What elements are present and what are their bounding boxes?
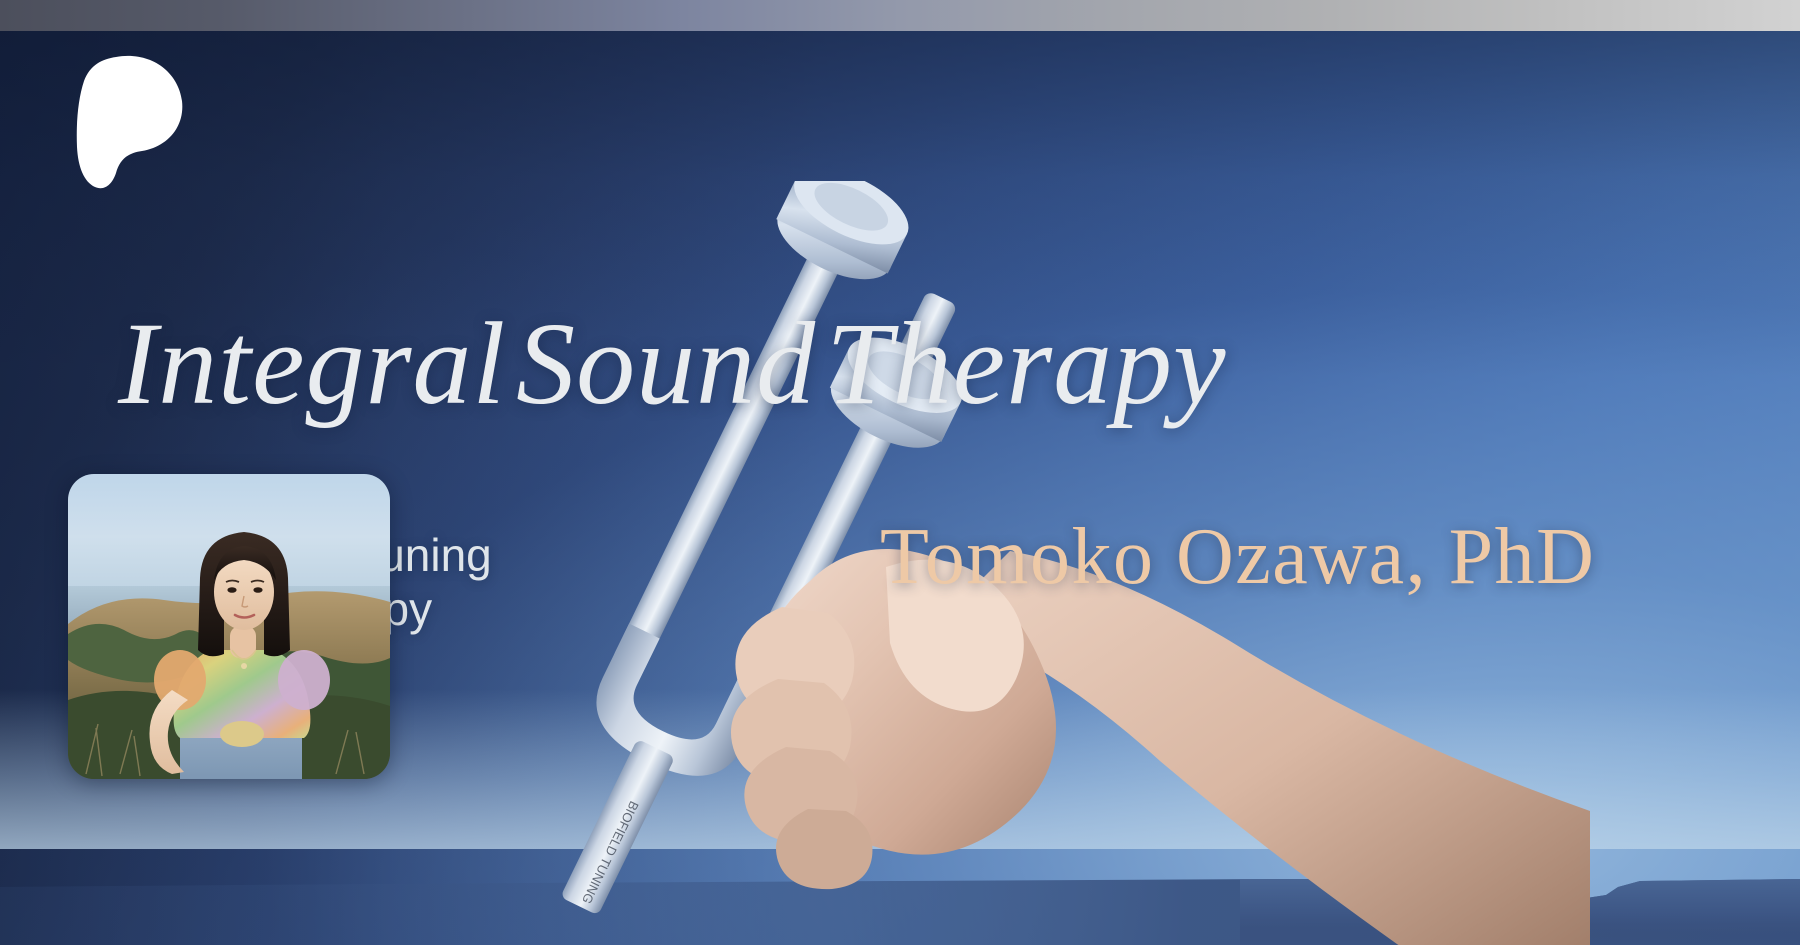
hand-holding-fork — [690, 511, 1590, 945]
avatar-photo — [68, 474, 390, 779]
patreon-creator-banner-page: BIOFIELD TUNING — [0, 0, 1800, 945]
creator-avatar[interactable] — [68, 474, 390, 779]
patreon-logo-icon[interactable] — [72, 55, 184, 190]
system-top-bar — [0, 0, 1800, 31]
